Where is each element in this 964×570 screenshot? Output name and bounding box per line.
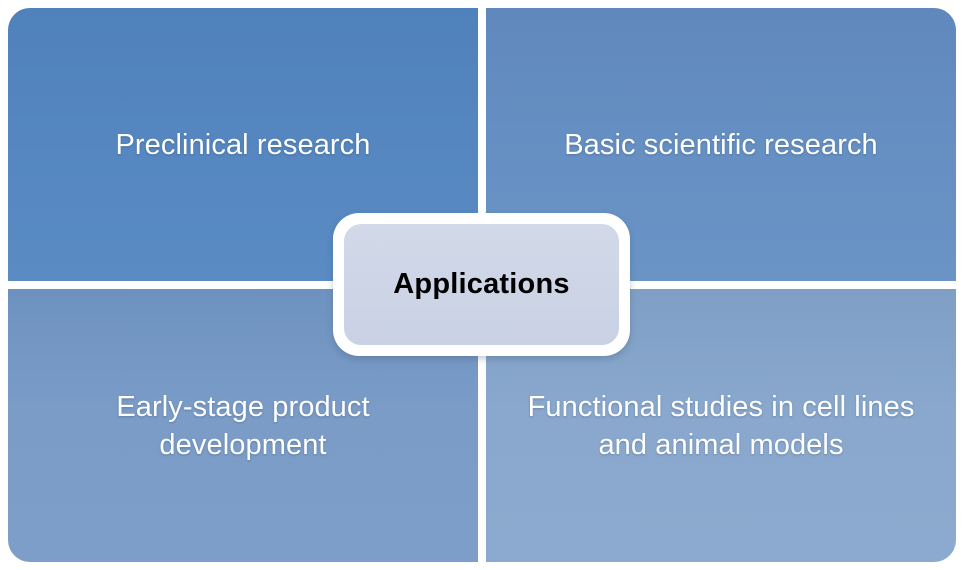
center-hub[interactable]: Applications (333, 213, 630, 356)
applications-quadrant-diagram: Preclinical research Basic scientific re… (0, 0, 964, 570)
quadrant-label-bottom-right: Functional studies in cell lines and ani… (486, 388, 956, 464)
center-hub-inner: Applications (344, 224, 619, 345)
quadrant-label-bottom-left: Early-stage product development (8, 388, 478, 464)
center-hub-label: Applications (393, 268, 569, 301)
quadrant-label-top-left: Preclinical research (89, 126, 396, 164)
quadrant-label-top-right: Basic scientific research (538, 126, 904, 164)
